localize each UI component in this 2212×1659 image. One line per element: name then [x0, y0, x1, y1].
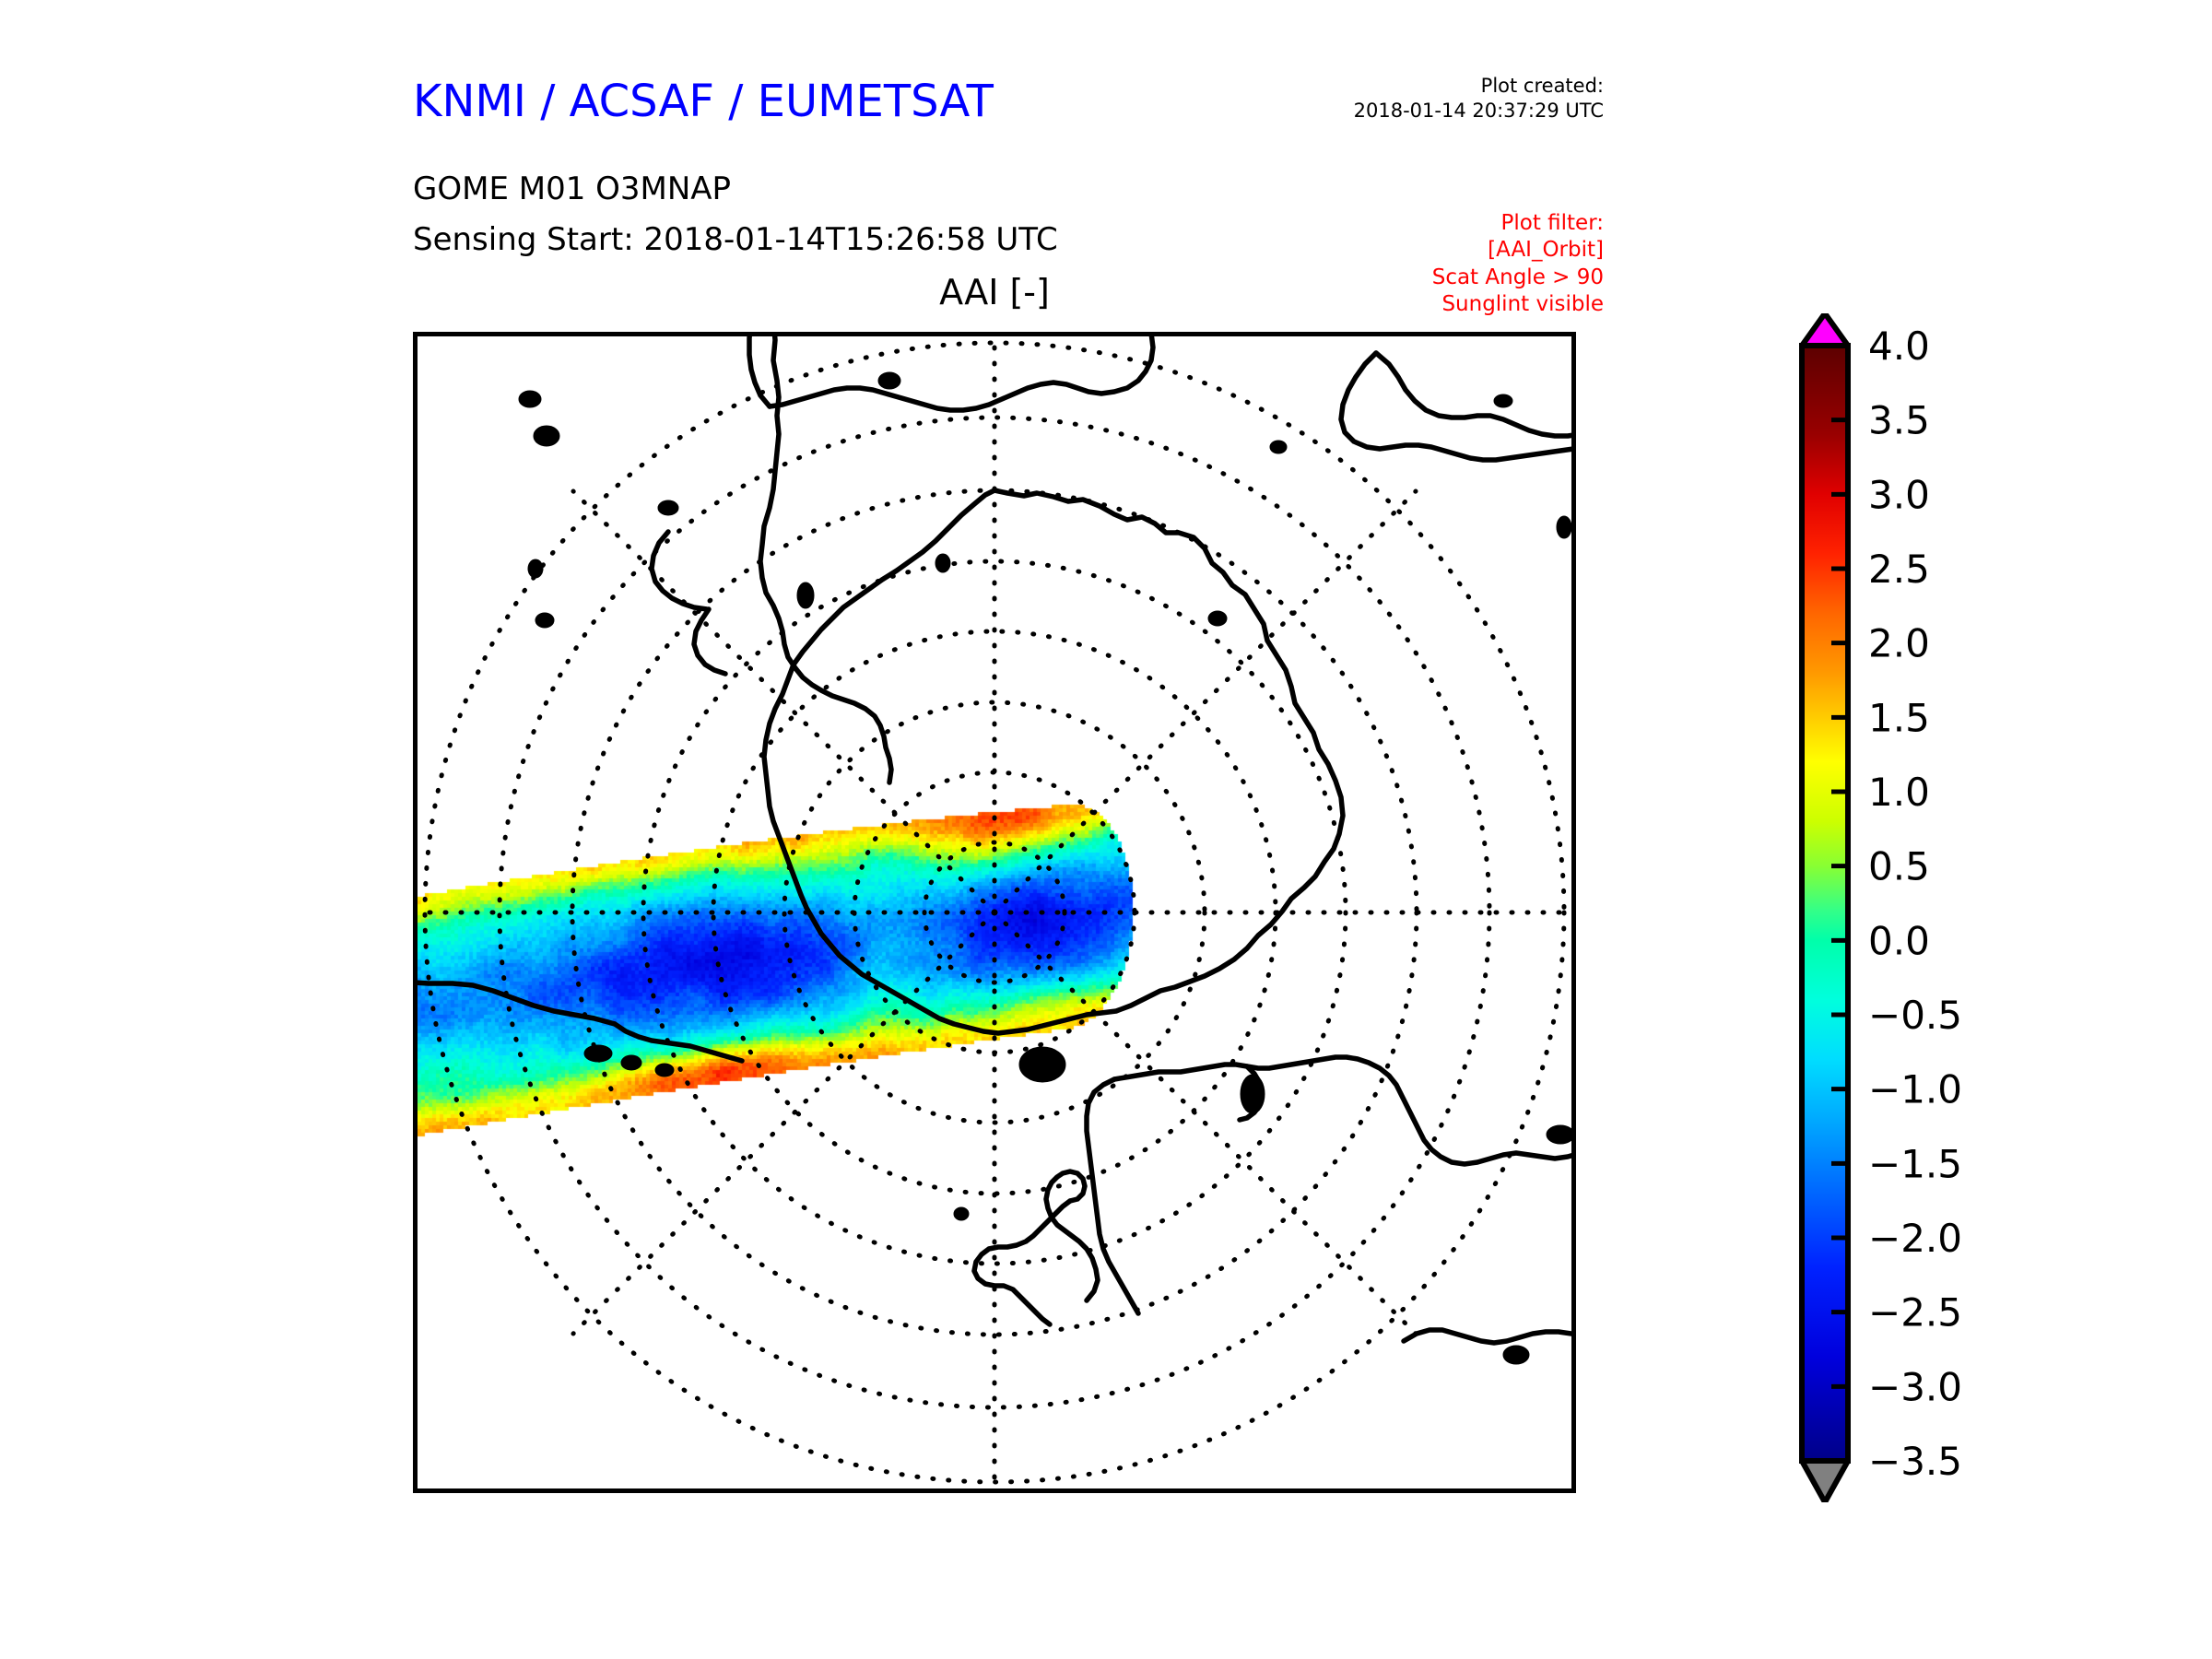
colorbar-over-arrow: [1802, 313, 1848, 346]
colorbar-tick-label: −2.5: [1868, 1290, 1962, 1335]
colorbar-tick-label: 2.0: [1868, 621, 1930, 666]
colorbar-tick-label: 0.5: [1868, 844, 1930, 889]
map-panel: [413, 332, 1576, 1493]
colorbar-tick-label: −1.0: [1868, 1067, 1962, 1112]
colorbar-tick-label: 4.0: [1868, 324, 1930, 369]
plot-created-timestamp: 2018-01-14 20:37:29 UTC: [1318, 99, 1604, 124]
colorbar-tick-label: −3.5: [1868, 1439, 1962, 1484]
colorbar-tick-label: 1.0: [1868, 770, 1930, 815]
plot-filter-line-0: Plot filter:: [1318, 210, 1604, 237]
plot-title: AAI [-]: [413, 272, 1576, 312]
plot-filter-line-1: [AAI_Orbit]: [1318, 237, 1604, 264]
coastline-new-zealand: [955, 1171, 1098, 1324]
product-title: GOME M01 O3MNAP: [413, 171, 731, 207]
organisation-banner: KNMI / ACSAF / EUMETSAT: [413, 76, 994, 127]
colorbar-tick-label: 3.5: [1868, 398, 1930, 443]
sensing-start: Sensing Start: 2018-01-14T15:26:58 UTC: [413, 221, 1058, 258]
colorbar-tick-label: 2.5: [1868, 547, 1930, 592]
colorbar-svg: 4.03.53.02.52.01.51.00.50.0−0.5−1.0−1.5−…: [1788, 313, 2175, 1502]
graticule-longitude-spokes: [418, 336, 1571, 1488]
colorbar-tick-labels: 4.03.53.02.52.01.51.00.50.0−0.5−1.0−1.5−…: [1868, 324, 1962, 1484]
colorbar-tick-label: −1.5: [1868, 1141, 1962, 1186]
colorbar-tick-label: 3.0: [1868, 472, 1930, 517]
map-overlay: [418, 336, 1571, 1488]
plot-created-label: Plot created:: [1318, 74, 1604, 99]
colorbar-tick-label: −0.5: [1868, 993, 1962, 1038]
coastline-australia: [1020, 1048, 1571, 1363]
colorbar-panel: 4.03.53.02.52.01.51.00.50.0−0.5−1.0−1.5−…: [1788, 313, 2175, 1502]
coastline-tierra-del-fuego: [585, 1024, 742, 1076]
coastline-africa: [749, 336, 1153, 410]
colorbar-tick-label: −2.0: [1868, 1216, 1962, 1261]
coastline-south-america: [418, 336, 891, 1024]
colorbar-tick-label: 0.0: [1868, 918, 1930, 963]
colorbar-under-arrow: [1802, 1461, 1848, 1502]
plot-created-block: Plot created: 2018-01-14 20:37:29 UTC: [1318, 74, 1604, 124]
colorbar-tick-label: −3.0: [1868, 1364, 1962, 1409]
islands-subantarctic: [936, 441, 1286, 625]
colorbar-gradient: [1802, 346, 1848, 1461]
colorbar-tick-label: 1.5: [1868, 695, 1930, 740]
coastline-madagascar: [1341, 353, 1571, 537]
